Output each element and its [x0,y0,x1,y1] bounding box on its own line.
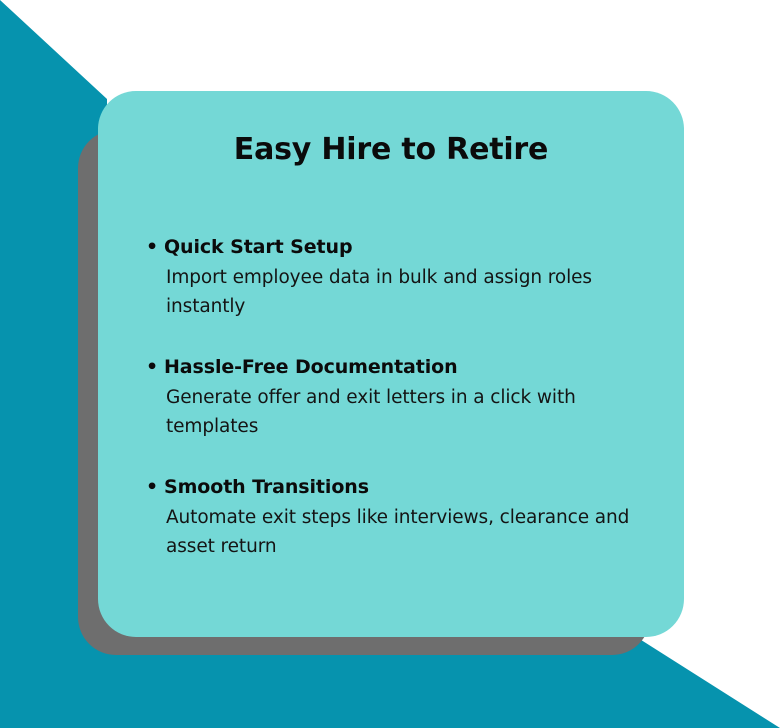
slide-canvas: Easy Hire to Retire • Quick Start Setup … [0,0,780,728]
feature-item-hassle-free-documentation: • Hassle-Free Documentation Generate off… [146,355,646,441]
feature-card: Easy Hire to Retire • Quick Start Setup … [98,91,684,637]
feature-heading-text: Quick Start Setup [164,235,352,259]
feature-item-smooth-transitions: • Smooth Transitions Automate exit steps… [146,475,646,561]
bullet-dot-icon: • [146,355,164,379]
feature-item-quick-start-setup: • Quick Start Setup Import employee data… [146,235,646,321]
feature-heading-text: Smooth Transitions [164,475,369,499]
feature-heading-row: • Smooth Transitions [146,475,646,499]
feature-description: Generate offer and exit letters in a cli… [166,383,644,441]
feature-list: • Quick Start Setup Import employee data… [146,235,646,561]
feature-description: Import employee data in bulk and assign … [166,263,644,321]
bullet-dot-icon: • [146,475,164,499]
bullet-dot-icon: • [146,235,164,259]
feature-heading-row: • Quick Start Setup [146,235,646,259]
feature-heading-text: Hassle-Free Documentation [164,355,458,379]
feature-description: Automate exit steps like interviews, cle… [166,503,644,561]
feature-heading-row: • Hassle-Free Documentation [146,355,646,379]
card-title: Easy Hire to Retire [98,132,684,167]
